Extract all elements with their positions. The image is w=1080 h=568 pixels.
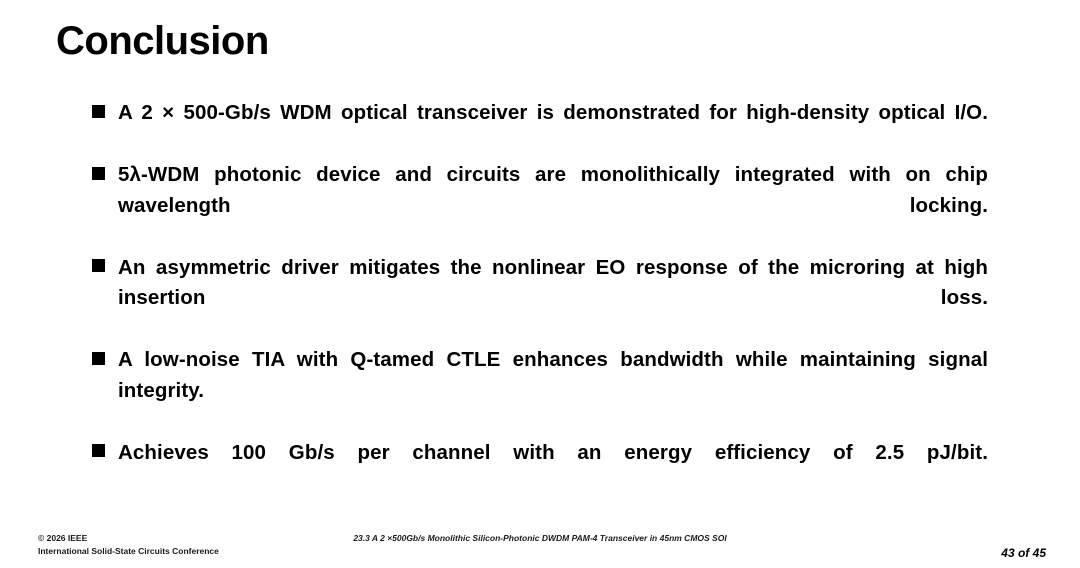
list-item: A low-noise TIA with Q-tamed CTLE enhanc… [92,345,988,437]
square-bullet-icon [92,253,118,283]
list-item-text: 5λ-WDM photonic device and circuits are … [118,160,988,252]
list-item: A 2 × 500-Gb/s WDM optical transceiver i… [92,98,988,159]
page-number: 43 of 45 [1001,546,1046,560]
list-item: Achieves 100 Gb/s per channel with an en… [92,438,988,499]
square-bullet-icon [92,98,118,128]
conference-name: International Solid-State Circuits Confe… [38,545,219,558]
square-bullet-icon [92,438,118,468]
list-item-text: A 2 × 500-Gb/s WDM optical transceiver i… [118,98,988,159]
square-bullet-icon [92,160,118,190]
paper-title-footer: 23.3 A 2 ×500Gb/s Monolithic Silicon-Pho… [0,533,1080,543]
slide-footer: © 2026 IEEE International Solid-State Ci… [0,508,1080,568]
list-item-text: An asymmetric driver mitigates the nonli… [118,253,988,345]
slide-canvas: Conclusion A 2 × 500-Gb/s WDM optical tr… [0,0,1080,568]
page-title: Conclusion [56,18,269,64]
list-item-text: Achieves 100 Gb/s per channel with an en… [118,438,988,499]
list-item: An asymmetric driver mitigates the nonli… [92,253,988,345]
list-item: 5λ-WDM photonic device and circuits are … [92,160,988,252]
bullet-list: A 2 × 500-Gb/s WDM optical transceiver i… [92,98,988,500]
square-bullet-icon [92,345,118,375]
list-item-text: A low-noise TIA with Q-tamed CTLE enhanc… [118,345,988,437]
